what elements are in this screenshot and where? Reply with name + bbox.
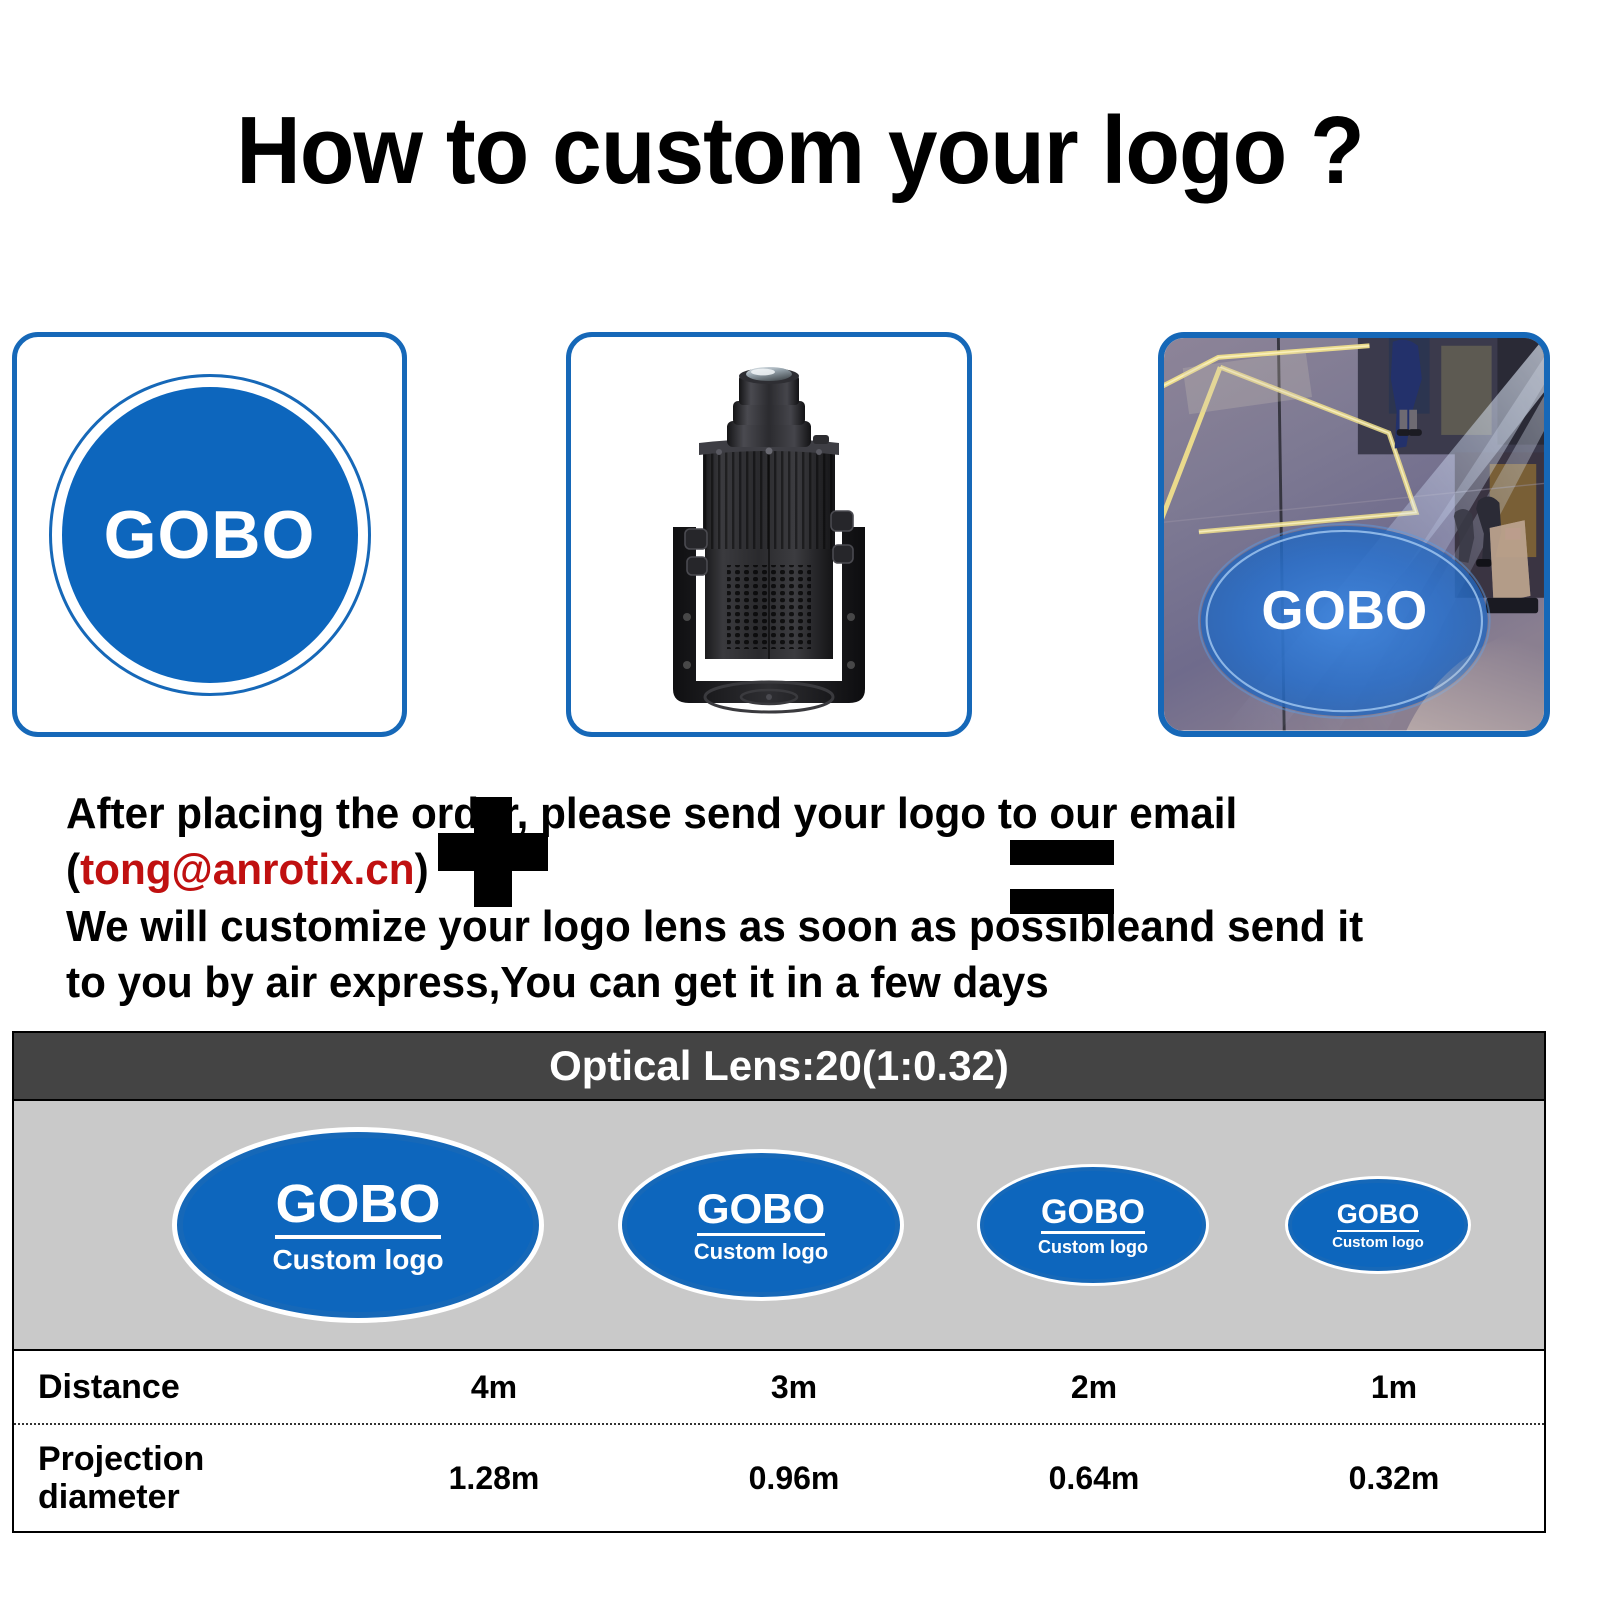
instructions-paragraph: After placing the order, please send you… (66, 786, 1487, 1011)
projection-1-sub: Custom logo (272, 1246, 443, 1274)
row-label-distance: Distance (14, 1368, 344, 1406)
infographic-page: How to custom your logo ? GOBO (0, 0, 1600, 1600)
spec-table-header-label: Optical Lens:20(1:0.32) (549, 1042, 1009, 1090)
gobo-disc-panel: GOBO (12, 332, 407, 737)
table-row-projection-diameter: Projection diameter 1.28m 0.96m 0.64m 0.… (14, 1423, 1544, 1531)
row-label-line-2: diameter (38, 1478, 344, 1516)
gobo-disc-label: GOBO (104, 501, 316, 569)
projection-2-gobo: GOBO (697, 1188, 825, 1236)
table-row-distance: Distance 4m 3m 2m 1m (14, 1351, 1544, 1423)
projection-1-gobo: GOBO (275, 1177, 440, 1239)
instructions-line-4: to you by air express,You can get it in … (66, 955, 1487, 1011)
projector-panel (566, 332, 972, 737)
paren-open: ( (66, 845, 80, 894)
row-label-projection-diameter: Projection diameter (14, 1440, 344, 1516)
row-label-line-1: Projection (38, 1440, 344, 1478)
projection-ellipse-3: GOBO Custom logo (977, 1164, 1209, 1286)
projection-preview-row: GOBO Custom logo GOBO Custom logo GOBO C… (14, 1101, 1544, 1351)
projection-3-gobo: GOBO (1041, 1195, 1145, 1234)
gobo-disc-face: GOBO (62, 387, 358, 683)
instructions-email-line: (tong@anrotix.cn) (66, 842, 1487, 898)
instructions-line-3: We will customize your logo lens as soon… (66, 899, 1487, 955)
projection-4-sub: Custom logo (1332, 1235, 1424, 1250)
diameter-value-2: 0.96m (644, 1460, 944, 1497)
page-title: How to custom your logo ? (56, 96, 1544, 206)
diameter-value-3: 0.64m (944, 1460, 1244, 1497)
projection-ellipse-4: GOBO Custom logo (1285, 1176, 1471, 1274)
diameter-value-4: 0.32m (1244, 1460, 1544, 1497)
distance-value-3: 2m (944, 1369, 1244, 1406)
projection-ellipse-1: GOBO Custom logo (172, 1127, 544, 1323)
distance-value-1: 4m (344, 1369, 644, 1406)
projection-ellipse-2: GOBO Custom logo (618, 1149, 904, 1301)
distance-value-4: 1m (1244, 1369, 1544, 1406)
distance-value-2: 3m (644, 1369, 944, 1406)
projector-image (599, 359, 939, 734)
projection-photo-panel: GOBO (1158, 332, 1550, 737)
projection-photo: GOBO (1164, 338, 1544, 731)
contact-email[interactable]: tong@anrotix.cn (80, 845, 415, 894)
diameter-value-1: 1.28m (344, 1460, 644, 1497)
spec-table-header: Optical Lens:20(1:0.32) (14, 1033, 1544, 1101)
projection-3-sub: Custom logo (1038, 1238, 1148, 1256)
gobo-disc-ring: GOBO (49, 374, 371, 696)
gobo-disc: GOBO (49, 374, 371, 696)
floor-projection-label: GOBO (1261, 580, 1427, 641)
paren-close: ) (415, 845, 429, 894)
spec-table: Optical Lens:20(1:0.32) GOBO Custom logo… (12, 1031, 1546, 1533)
projection-4-gobo: GOBO (1337, 1201, 1420, 1232)
projection-2-sub: Custom logo (694, 1241, 828, 1263)
projector-illustration (599, 359, 939, 729)
instructions-line-1: After placing the order, please send you… (66, 786, 1487, 842)
hero-row: GOBO (0, 332, 1600, 744)
